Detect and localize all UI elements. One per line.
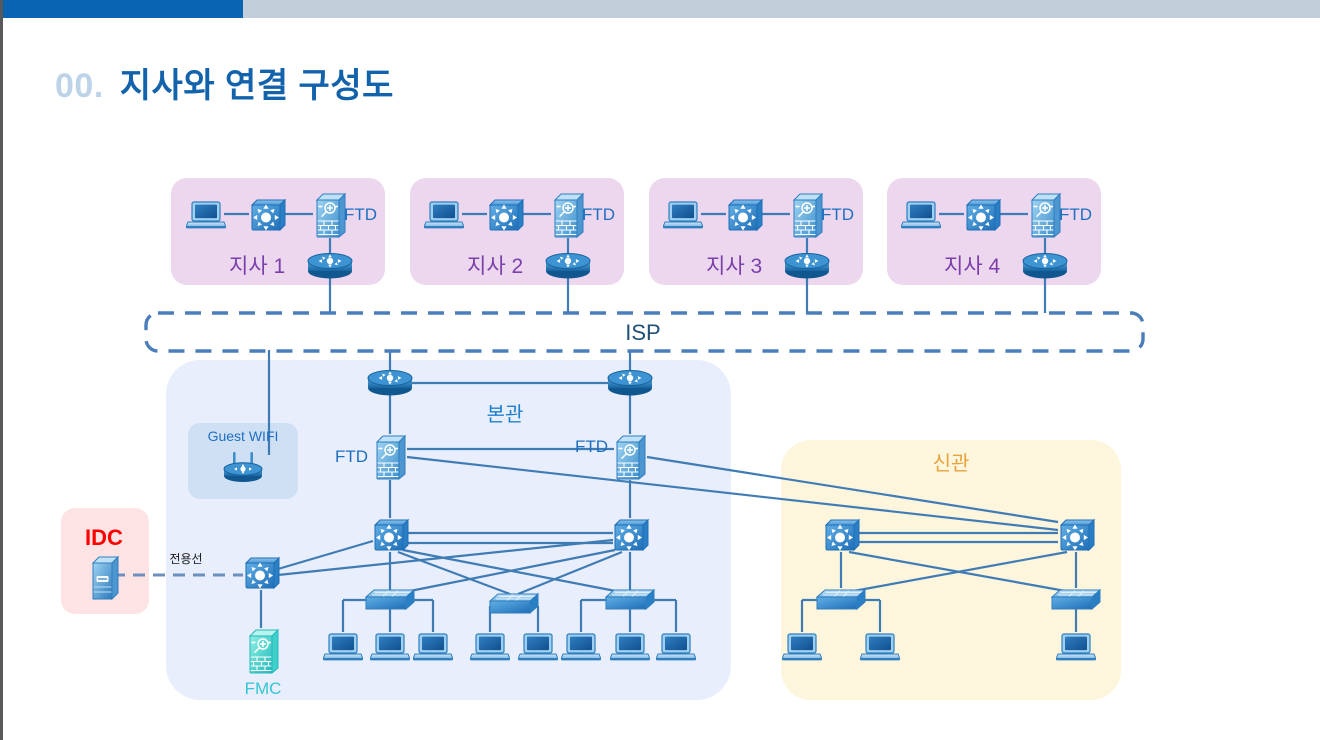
ftd-label: FTD — [582, 205, 615, 224]
slide-page: 00. 지사와 연결 구성도 — [0, 0, 1320, 740]
guest-wifi-label: Guest WIFI — [208, 428, 279, 444]
ftd-firewall-icon — [317, 194, 345, 237]
ftd-left-label: FTD — [335, 447, 368, 466]
isp-zone: ISP — [146, 313, 1143, 351]
laptop-icon — [663, 202, 703, 228]
laptop-icon — [782, 634, 822, 660]
branch-label: 지사 1 — [229, 255, 285, 278]
access-switch-icon[interactable] — [606, 590, 654, 609]
ftd-firewall-left-icon[interactable] — [377, 436, 405, 479]
laptop-icon — [424, 202, 464, 228]
ftd-firewall-icon — [1032, 194, 1060, 237]
laptop-icon — [186, 202, 226, 228]
branch-label: 지사 3 — [706, 255, 762, 278]
laptop-icon — [901, 202, 941, 228]
laptop-icon — [370, 634, 410, 660]
main-building-label: 본관 — [487, 403, 524, 426]
new-building-label: 신관 — [933, 452, 970, 475]
fmc-icon[interactable] — [250, 630, 278, 673]
access-switch-icon[interactable] — [817, 590, 865, 609]
router-icon — [785, 254, 829, 279]
ftd-label: FTD — [1059, 205, 1092, 224]
laptop-icon — [470, 634, 510, 660]
access-switch-icon[interactable] — [490, 594, 538, 613]
idc-label: IDC — [85, 525, 123, 550]
core-switch-left-icon[interactable] — [826, 520, 859, 551]
laptop-icon — [656, 634, 696, 660]
access-switch-icon[interactable] — [366, 590, 414, 609]
network-diagram: ISP FTD 지사 1 FTD 지사 2 FTD 지사 3 — [3, 0, 1320, 740]
isp-label: ISP — [625, 320, 660, 345]
access-switch-icon[interactable] — [1052, 590, 1100, 609]
fmc-label: FMC — [245, 679, 282, 698]
laptop-icon — [1056, 634, 1096, 660]
router-icon — [1023, 254, 1067, 279]
laptop-icon — [413, 634, 453, 660]
ftd-right-label: FTD — [575, 437, 608, 456]
dedicated-line-label: 전용선 — [169, 552, 202, 566]
core-switch-right-icon[interactable] — [615, 520, 648, 551]
switch-icon — [252, 200, 285, 231]
edge-router-left-icon[interactable] — [368, 371, 412, 396]
laptop-icon — [860, 634, 900, 660]
laptop-icon — [518, 634, 558, 660]
edge-router-right-icon[interactable] — [608, 371, 652, 396]
ftd-label: FTD — [344, 205, 377, 224]
ftd-firewall-icon — [794, 194, 822, 237]
idc-edge-switch-icon[interactable] — [246, 558, 279, 589]
server-icon — [93, 557, 118, 599]
router-icon — [546, 254, 590, 279]
ftd-firewall-icon — [555, 194, 583, 237]
switch-icon — [490, 200, 523, 231]
core-switch-left-icon[interactable] — [375, 520, 408, 551]
laptop-icon — [561, 634, 601, 660]
switch-icon — [967, 200, 1000, 231]
core-switch-right-icon[interactable] — [1061, 520, 1094, 551]
laptop-icon — [323, 634, 363, 660]
ftd-label: FTD — [821, 205, 854, 224]
laptop-icon — [610, 634, 650, 660]
branch-label: 지사 4 — [944, 255, 1000, 278]
switch-icon — [729, 200, 762, 231]
router-icon — [308, 254, 352, 279]
ftd-firewall-right-icon[interactable] — [617, 436, 645, 479]
branch-label: 지사 2 — [467, 255, 523, 278]
